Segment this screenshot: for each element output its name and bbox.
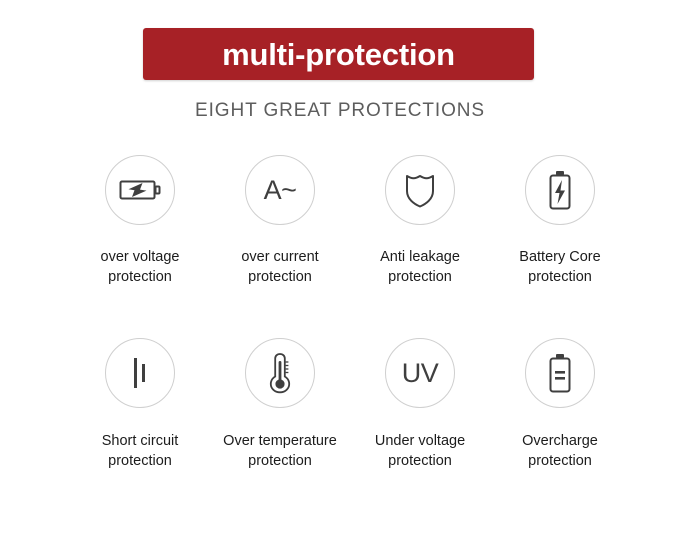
feature-short-circuit: Short circuit protection xyxy=(70,338,210,471)
uv-glyph: UV xyxy=(402,360,439,387)
features-row-1: over voltage protection A~ over current … xyxy=(0,155,680,287)
feature-over-temperature: Over temperature protection xyxy=(210,338,350,471)
feature-label: Short circuit protection xyxy=(102,431,179,471)
feature-label: over voltage protection xyxy=(101,247,180,287)
feature-label: Anti leakage protection xyxy=(380,247,460,287)
feature-under-voltage: UV Under voltage protection xyxy=(350,338,490,471)
feature-label: Under voltage protection xyxy=(375,431,465,471)
shield-icon xyxy=(385,155,455,225)
features-grid: over voltage protection A~ over current … xyxy=(0,155,680,471)
uv-icon: UV xyxy=(385,338,455,408)
feature-overcharge: Overcharge protection xyxy=(490,338,630,471)
thermometer-icon xyxy=(245,338,315,408)
battery-vertical-bars-icon xyxy=(525,338,595,408)
feature-label: Battery Core protection xyxy=(519,247,600,287)
feature-anti-leakage: Anti leakage protection xyxy=(350,155,490,287)
feature-battery-core: Battery Core protection xyxy=(490,155,630,287)
ampere-ac-glyph: A~ xyxy=(264,177,297,204)
feature-over-current: A~ over current protection xyxy=(210,155,350,287)
multi-protection-infographic: multi-protection EIGHT GREAT PROTECTIONS… xyxy=(0,0,680,544)
feature-label: over current protection xyxy=(241,247,318,287)
banner: multi-protection xyxy=(143,28,534,80)
subtitle: EIGHT GREAT PROTECTIONS xyxy=(0,100,680,122)
features-row-2: Short circuit protection Over temperatur… xyxy=(0,338,680,471)
battery-horizontal-bolt-icon xyxy=(105,155,175,225)
feature-over-voltage: over voltage protection xyxy=(70,155,210,287)
feature-label: Over temperature protection xyxy=(223,431,337,471)
short-circuit-bars-icon xyxy=(105,338,175,408)
battery-vertical-bolt-icon xyxy=(525,155,595,225)
ampere-ac-icon: A~ xyxy=(245,155,315,225)
feature-label: Overcharge protection xyxy=(522,431,598,471)
banner-title: multi-protection xyxy=(222,39,455,70)
